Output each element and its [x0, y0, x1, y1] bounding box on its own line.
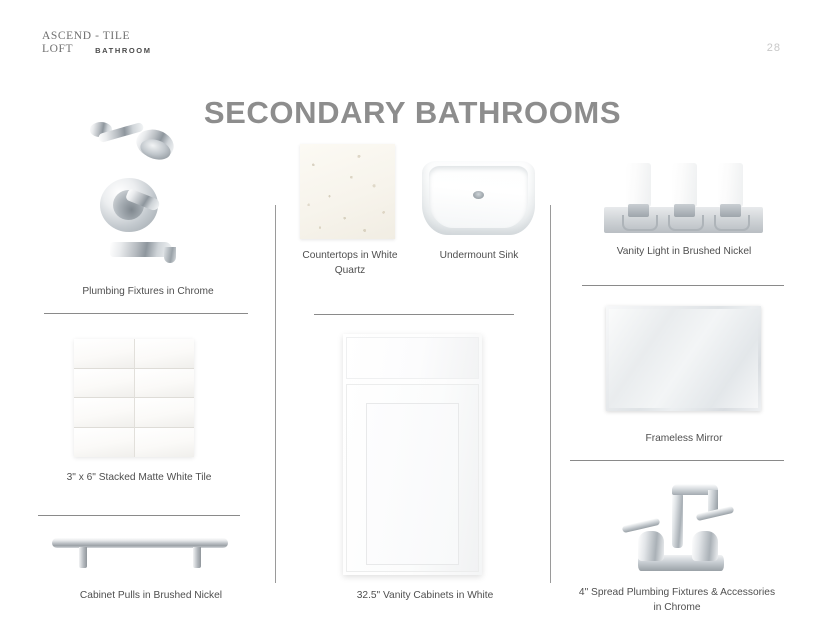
- tile-row: [74, 428, 194, 458]
- caption-vanity-light: Vanity Light in Brushed Nickel: [596, 245, 772, 260]
- tile-unit: [135, 398, 195, 428]
- three-light-vanity-fixture-image: [604, 163, 763, 235]
- tile-row: [74, 339, 194, 369]
- column-divider-left: [275, 205, 276, 583]
- cabinet-drawer-front: [346, 337, 479, 379]
- stacked-white-tile-sample-image: [74, 339, 194, 457]
- tile-unit: [135, 369, 195, 399]
- pull-post-left: [79, 547, 87, 568]
- pull-post-right: [193, 547, 201, 568]
- brand-line-1: ASCEND - TILE: [42, 30, 152, 43]
- tub-spout: [110, 242, 172, 257]
- vanity-light-arm: [714, 215, 750, 231]
- divider-middle-column: [314, 314, 514, 315]
- faucet-spout-riser: [672, 492, 683, 548]
- vanity-light-shade: [672, 163, 697, 208]
- column-divider-right: [550, 205, 551, 583]
- white-quartz-sample-image: [300, 144, 395, 239]
- tile-unit: [74, 339, 135, 369]
- bar-cabinet-pull-image: [52, 534, 228, 572]
- caption-frameless-mirror: Frameless Mirror: [596, 432, 772, 447]
- caption-vanity-cabinets: 32.5" Vanity Cabinets in White: [307, 589, 543, 604]
- centerset-chrome-faucet-image: [620, 470, 745, 575]
- sink-drain: [473, 191, 484, 199]
- caption-plumbing-fixtures: Plumbing Fixtures in Chrome: [38, 285, 258, 300]
- tile-unit: [74, 428, 135, 458]
- undermount-sink-image: [422, 161, 535, 235]
- tile-unit: [74, 398, 135, 428]
- caption-stacked-tile: 3" x 6" Stacked Matte White Tile: [44, 471, 234, 486]
- caption-cabinet-pulls: Cabinet Pulls in Brushed Nickel: [38, 589, 264, 604]
- caption-countertops: Countertops in White Quartz: [300, 249, 400, 279]
- divider-under-vanity-light: [582, 285, 784, 286]
- divider-under-tile: [38, 515, 240, 516]
- caption-undermount-sink: Undermount Sink: [414, 249, 544, 264]
- page-number: 28: [767, 42, 781, 54]
- brand-block: ASCEND - TILE LOFT BATHROOM: [42, 30, 152, 56]
- faucet-handle-base-right: [692, 531, 718, 561]
- shower-tub-fixture-set-image: [88, 116, 193, 271]
- vanity-light-arm: [668, 215, 704, 231]
- tile-unit: [135, 428, 195, 458]
- vanity-light-shade: [718, 163, 743, 208]
- divider-under-plumbing: [44, 313, 248, 314]
- section-label: BATHROOM: [95, 47, 151, 57]
- tile-unit: [135, 339, 195, 369]
- tile-row: [74, 369, 194, 399]
- faucet-handle-base-left: [638, 531, 664, 561]
- tile-row: [74, 398, 194, 428]
- tile-unit: [74, 369, 135, 399]
- vanity-light-arm: [622, 215, 658, 231]
- caption-spread-plumbing-fixtures: 4" Spread Plumbing Fixtures & Accessorie…: [575, 586, 779, 616]
- mirror-reflective-surface: [609, 309, 758, 408]
- divider-under-mirror: [570, 460, 784, 461]
- cabinet-door-inset-panel: [366, 403, 459, 565]
- vanity-light-shade: [626, 163, 651, 208]
- brand-line-2: LOFT: [42, 43, 73, 56]
- frameless-rectangular-mirror-image: [606, 306, 761, 411]
- brand-row-secondary: LOFT BATHROOM: [42, 43, 152, 56]
- cabinet-door: [346, 384, 479, 572]
- white-shaker-vanity-cabinet-image: [343, 334, 482, 575]
- tub-spout-tip: [164, 247, 176, 263]
